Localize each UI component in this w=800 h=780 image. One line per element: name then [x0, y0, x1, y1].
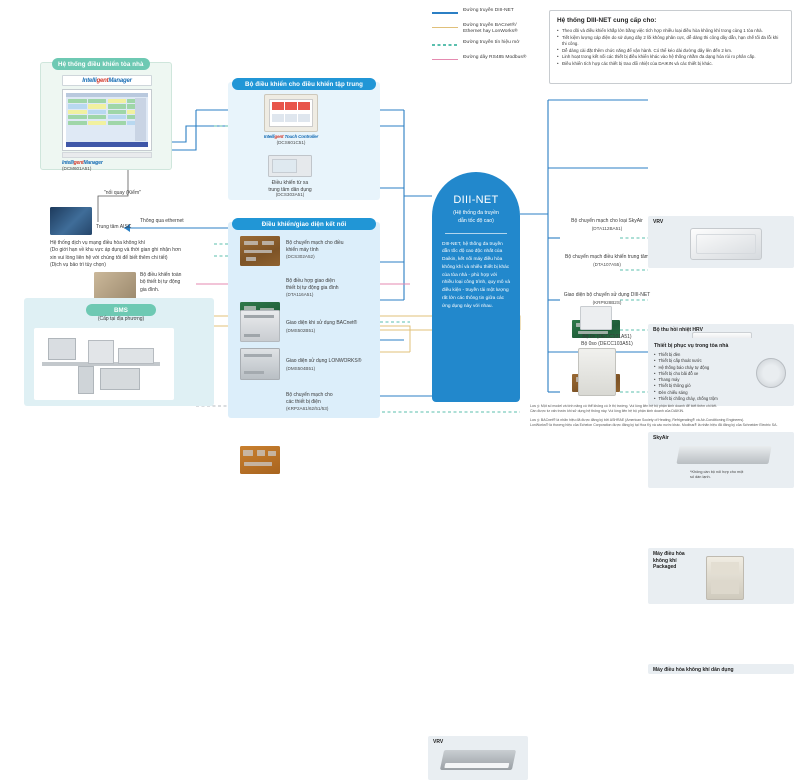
equipment-card-packaged: Máy điều hòa không khí Packaged — [648, 548, 794, 604]
legend-label: Đường truyền tín hiệu mở — [463, 40, 519, 47]
equipment-label: Máy điều hòa không khí Packaged — [653, 551, 685, 571]
bottom-vrv-label: VRV — [433, 739, 443, 746]
diii-net-adapter-caption: Giao diện bộ chuyển sử dụng DIII-NET — [548, 292, 666, 299]
legend-item: Đường dây RS485 Modbus® — [432, 55, 547, 65]
info-bullet: Theo dõi và điều khiển khắp lớn bằng việ… — [557, 28, 784, 35]
electrical-switch-model: (KRP2A61/62/51/53) — [286, 406, 328, 411]
interface-panel-header: Điều khiển/giao diện kết nối — [232, 218, 376, 230]
services-title: Thiết bị phục vụ trong tòa nhà — [654, 343, 788, 349]
dial-up-label: "nối quay (Kiểm" — [104, 190, 141, 197]
ethernet-label: Thông qua ethernet — [140, 218, 184, 225]
legend-line-open-signal — [432, 41, 458, 50]
itouch-controller-device — [264, 94, 318, 132]
im-logo-text: IntelligentManager — [82, 78, 131, 84]
skyair-note: *Không cần bộ nối hợp cho một số dàn lạn… — [690, 470, 786, 480]
electrical-switch-board-photo — [240, 446, 280, 474]
equipment-label: VRV — [653, 219, 663, 226]
vrv-cassette-image — [690, 228, 762, 260]
bms-workstation-card — [34, 328, 174, 400]
building-control-header: Hệ thống điều khiển tòa nhà — [52, 58, 150, 70]
central-adapter-caption: Bộ chuyển mạch điều khiển trung tâm — [552, 254, 662, 261]
central-remote-model: (DCS303A51) — [248, 192, 332, 197]
lonworks-interface-caption: Giao diện sử dụng LONWORKS® — [286, 358, 378, 365]
pc-switch-caption: Bộ chuyển mạch cho điều khiển máy tính — [286, 240, 378, 255]
bms-tower — [78, 366, 94, 394]
building-services-box: Thiết bị phục vụ trong tòa nhà Thiết bị … — [648, 338, 794, 406]
central-adapter-model: (DTA107A55) — [552, 262, 662, 267]
bms-header: BMS — [86, 304, 156, 316]
diii-net-adapter-model: (KRP928B2S) — [548, 300, 666, 305]
intelligent-manager-logo: IntelligentManager — [62, 75, 152, 86]
service-item: Thiết bị chống cháy, chống trộm — [654, 396, 788, 402]
equipment-card-vrv: VRV — [648, 216, 794, 268]
skyair-adapter-model: (DTA112BA51) — [552, 226, 662, 231]
home-automation-caption: Bộ điều khiển toàn bộ thiết bị tự động g… — [140, 272, 196, 294]
equipment-label: SkyAir — [653, 435, 669, 442]
bacnet-interface-model: (DMS502B51) — [286, 328, 315, 333]
legend-item: Đường truyền DIII-NET — [432, 8, 547, 18]
deci-unit-photo — [578, 348, 616, 396]
info-bullet: Tiết kiệm lượng cáp điện do sử dụng dây … — [557, 35, 784, 48]
aisc-label: Trung tâm AISC — [96, 224, 131, 231]
aisc-photo — [50, 207, 92, 235]
info-box-list: Theo dõi và điều khiển khắp lớn bằng việ… — [557, 28, 784, 68]
bms-sub: (Cấp tại địa phương) — [86, 316, 156, 323]
central-controller-header: Bộ điều khiển cho điều khiển tập trung — [232, 78, 376, 90]
itouch-screen — [269, 99, 313, 127]
intelligent-manager-screen — [62, 89, 152, 151]
info-bullet: Dễ dàng cài đặt thêm chức năng để vận hà… — [557, 48, 784, 55]
diii-net-adapter-photo — [580, 306, 612, 330]
legend-item: Đường truyền BACnet®/ Ethernet hay LonWo… — [432, 23, 547, 36]
info-box-title: Hệ thống DIII-NET cung cấp cho: — [557, 17, 784, 24]
bacnet-interface-caption: Giao diện khi sử dụng BACnet® — [286, 320, 378, 327]
skyair-unit-image — [676, 446, 771, 464]
legend-label: Đường dây RS485 Modbus® — [463, 55, 526, 62]
legend-item: Đường truyền tín hiệu mở — [432, 40, 547, 50]
equipment-card-skyair: SkyAir *Không cần bộ nối hợp cho một số … — [648, 432, 794, 488]
home-interface-model: (DTA116A51) — [286, 292, 313, 297]
itouch-logo: Intelligent Touch Controller — [252, 134, 330, 139]
legend-line-modbus — [432, 56, 458, 65]
equipment-card-residential: Máy điều hòa không khí dân dụng — [648, 664, 794, 674]
hub-title: DIII-NET — [432, 194, 520, 206]
electrical-switch-caption: Bộ chuyển mạch cho các thiết bị điện — [286, 392, 378, 407]
bacnet-interface-photo — [240, 310, 280, 342]
diagram-canvas: Đường truyền DIII-NET Đường truyền BACne… — [0, 0, 800, 450]
legend: Đường truyền DIII-NET Đường truyền BACne… — [432, 8, 547, 69]
im-screen-content — [66, 93, 148, 147]
aisc-description: Hệ thống dịch vụ mạng điều hòa không khí… — [50, 240, 220, 269]
hub-body: DIII-NET, hệ thống đa truyền dẫn tốc độ … — [432, 241, 520, 311]
hub-divider — [445, 233, 507, 234]
footnotes: Lưu ý: Một số model và tính năng có thể … — [530, 404, 794, 428]
pc-switch-model: (DCS302A52) — [286, 254, 315, 259]
bms-monitor — [48, 338, 76, 360]
im-stand — [62, 152, 152, 158]
legend-label: Đường truyền BACnet®/ Ethernet hay LonWo… — [463, 23, 518, 36]
diii-net-hub: DIII-NET (Hệ thống đa truyền dẫn tốc độ … — [432, 172, 520, 402]
info-bullet: Điều khiển tích hợp các thiết bị trao đổ… — [557, 61, 784, 68]
footnote: LonWorks® là thương hiệu của Echelon Cor… — [530, 423, 794, 428]
bms-device — [118, 348, 154, 364]
lonworks-interface-photo — [240, 348, 280, 380]
info-bullet: Linh hoạt trong kết nối các thiết bị điề… — [557, 54, 784, 61]
legend-line-bacnet — [432, 24, 458, 33]
info-box: Hệ thống DIII-NET cung cấp cho: Theo dõi… — [549, 10, 792, 84]
lonworks-interface-model: (DMS504B51) — [286, 366, 315, 371]
itouch-model: (DCS601C51) — [252, 140, 330, 145]
legend-label: Đường truyền DIII-NET — [463, 8, 514, 15]
hub-subtitle: (Hệ thống đa truyền dẫn tốc độ cao) — [432, 210, 520, 226]
home-automation-photo — [94, 272, 136, 300]
central-remote-device — [268, 155, 312, 177]
pc-switch-board-photo — [240, 236, 280, 266]
bottom-vrv-image — [440, 750, 516, 770]
footnote: Cần được tư vấn trước khi sử dụng hệ thố… — [530, 409, 794, 414]
skyair-adapter-caption: Bộ chuyển mạch cho loại SkyAir — [552, 218, 662, 225]
bms-printer — [88, 340, 114, 364]
im-model: (DCM601A51) — [62, 166, 91, 171]
legend-line-diii-net — [432, 9, 458, 18]
packaged-unit-image — [706, 556, 744, 600]
home-interface-caption: Bộ điều hợp giao diện thiết bị tự động g… — [286, 278, 378, 293]
equipment-card-bottom-vrv: VRV — [428, 736, 528, 780]
bms-shelf — [100, 368, 140, 390]
fan-icon — [756, 358, 786, 388]
equipment-label: Máy điều hòa không khí dân dụng — [653, 667, 734, 674]
